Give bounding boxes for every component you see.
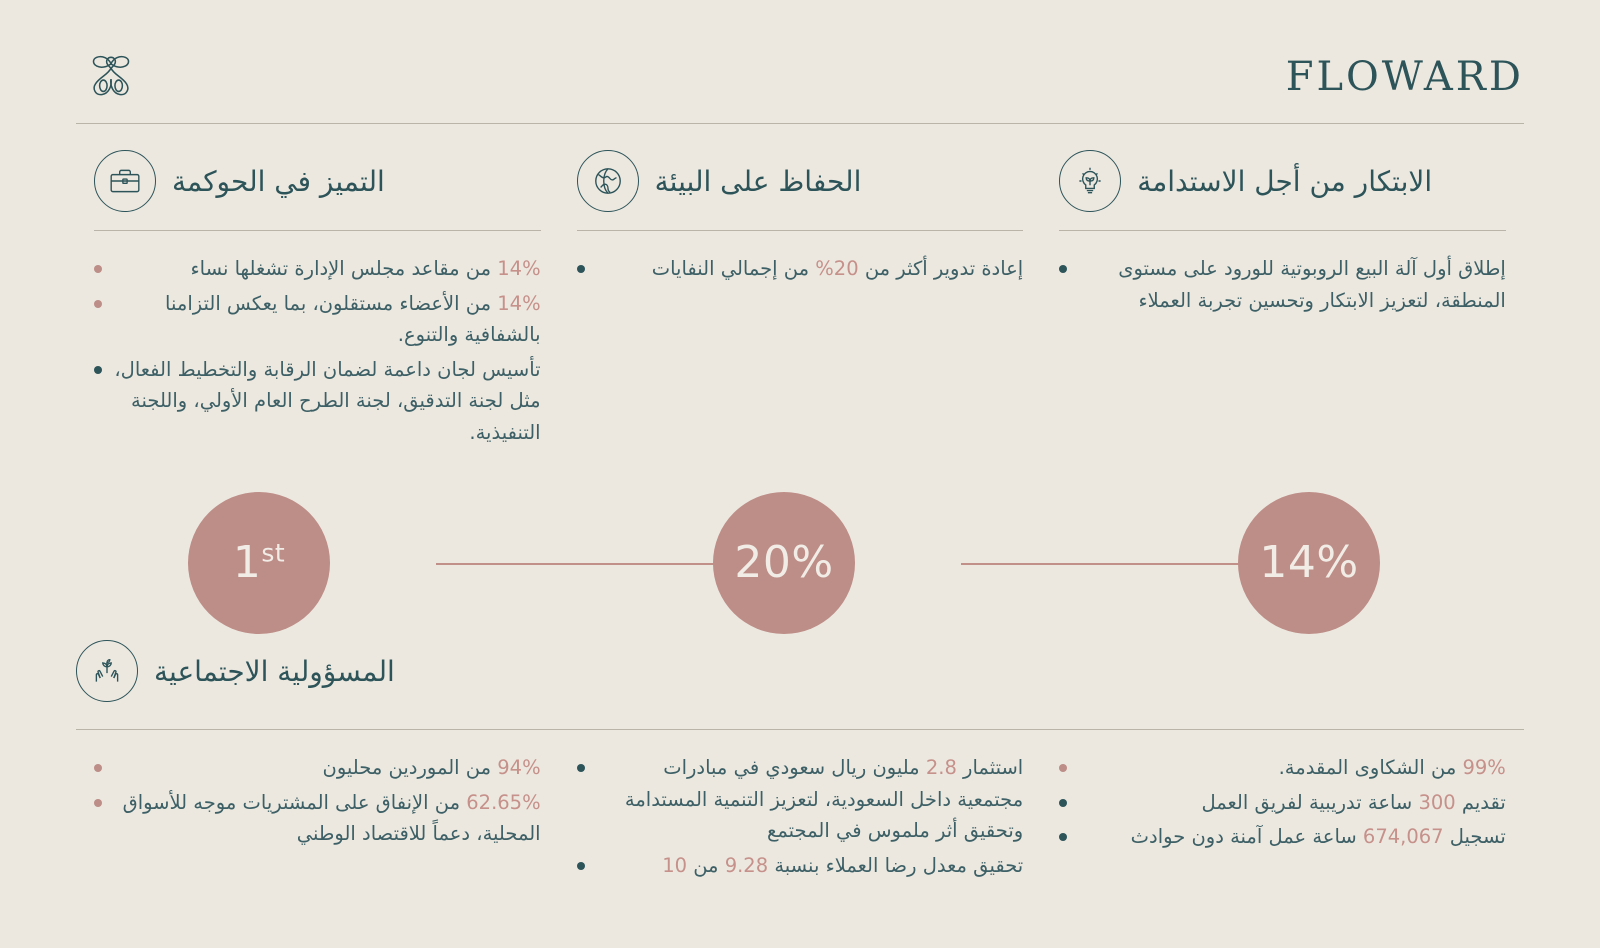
section-innovation: الابتكار من أجل الاستدامة إطلاق أول آلة …: [1041, 150, 1524, 451]
social-header: المسؤولية الاجتماعية: [76, 640, 1524, 702]
highlight-value: 62.65%: [466, 791, 540, 814]
body-text: من إجمالي النفايات: [652, 257, 816, 280]
bullet-dot-icon: [577, 764, 585, 772]
social-bullets-local-sourcing: 94% من الموردين محليون62.65% من الإنفاق …: [94, 752, 541, 850]
highlight-value: 20%: [815, 257, 858, 280]
list-item: إعادة تدوير أكثر من 20% من إجمالي النفاي…: [577, 253, 1024, 285]
list-item: تحقيق معدل رضا العملاء بنسبة 9.28 من 10: [577, 850, 1024, 882]
highlight-value: 14%: [497, 292, 540, 315]
social-bullets-workforce-safety: 99% من الشكاوى المقدمة.تقديم 300 ساعة تد…: [1059, 752, 1506, 853]
bullet-dot-icon: [577, 862, 585, 870]
body-text: إعادة تدوير أكثر من: [859, 257, 1024, 280]
governance-title: التميز في الحوكمة: [172, 164, 385, 199]
list-item-text: 62.65% من الإنفاق على المشتريات موجه للأ…: [114, 787, 541, 850]
governance-header: التميز في الحوكمة: [94, 150, 541, 212]
bullet-dot-icon: [1059, 265, 1067, 273]
bullet-dot-icon: [94, 764, 102, 772]
list-item-text: استثمار 2.8 مليون ريال سعودي في مبادرات …: [597, 752, 1024, 847]
infographic-page: FLOWARD: [0, 0, 1600, 948]
social-divider: [76, 729, 1524, 730]
stat-value-board: 14%: [1259, 541, 1358, 585]
social-bullets-community-investment: استثمار 2.8 مليون ريال سعودي في مبادرات …: [577, 752, 1024, 881]
bullet-dot-icon: [577, 265, 585, 273]
environment-bullets: إعادة تدوير أكثر من 20% من إجمالي النفاي…: [577, 253, 1024, 285]
brand-logo: FLOWARD: [1286, 57, 1524, 97]
stat-bubble-first: 1st: [188, 492, 330, 634]
environment-title: الحفاظ على البيئة: [655, 164, 862, 199]
bullet-dot-icon: [94, 799, 102, 807]
hands-plant-icon: [76, 640, 138, 702]
list-item-text: تحقيق معدل رضا العملاء بنسبة 9.28 من 10: [597, 850, 1024, 882]
page-header: FLOWARD: [76, 34, 1524, 120]
body-text: من: [687, 854, 725, 877]
social-title: المسؤولية الاجتماعية: [154, 654, 395, 689]
list-item: تسجيل 674,067 ساعة عمل آمنة دون حوادث: [1059, 821, 1506, 853]
list-item-text: تأسيس لجان داعمة لضمان الرقابة والتخطيط …: [114, 354, 541, 449]
innovation-title: الابتكار من أجل الاستدامة: [1137, 164, 1432, 199]
list-item-text: 14% من مقاعد مجلس الإدارة تشغلها نساء: [114, 253, 541, 285]
section-governance: التميز في الحوكمة 14% من مقاعد مجلس الإد…: [76, 150, 559, 451]
stat-bubble-board: 14%: [1238, 492, 1380, 634]
list-item-text: 99% من الشكاوى المقدمة.: [1079, 752, 1506, 784]
list-item: 94% من الموردين محليون: [94, 752, 541, 784]
social-column-community-investment: استثمار 2.8 مليون ريال سعودي في مبادرات …: [559, 752, 1042, 884]
highlight-value: 9.28: [725, 854, 768, 877]
body-text: ساعة تدريبية لفريق العمل: [1201, 791, 1418, 814]
social-column-local-sourcing: 94% من الموردين محليون62.65% من الإنفاق …: [76, 752, 559, 884]
body-text: من مقاعد مجلس الإدارة تشغلها نساء: [190, 257, 497, 280]
list-item: استثمار 2.8 مليون ريال سعودي في مبادرات …: [577, 752, 1024, 847]
stat-bubble-recycling: 20%: [713, 492, 855, 634]
list-item: تأسيس لجان داعمة لضمان الرقابة والتخطيط …: [94, 354, 541, 449]
highlight-value: 99%: [1462, 756, 1505, 779]
bullet-dot-icon: [1059, 799, 1067, 807]
innovation-divider: [1059, 230, 1506, 231]
governance-bullets: 14% من مقاعد مجلس الإدارة تشغلها نساء14%…: [94, 253, 541, 448]
innovation-header: الابتكار من أجل الاستدامة: [1059, 150, 1506, 212]
bullet-dot-icon: [1059, 764, 1067, 772]
list-item: تقديم 300 ساعة تدريبية لفريق العمل: [1059, 787, 1506, 819]
list-item: إطلاق أول آلة البيع الروبوتية للورود على…: [1059, 253, 1506, 316]
briefcase-icon: [94, 150, 156, 212]
highlight-value: 300: [1418, 791, 1455, 814]
body-text: تسجيل: [1444, 825, 1506, 848]
body-text: ساعة عمل آمنة دون حوادث: [1131, 825, 1363, 848]
list-item-text: تسجيل 674,067 ساعة عمل آمنة دون حوادث: [1079, 821, 1506, 853]
body-text: من الشكاوى المقدمة.: [1279, 756, 1463, 779]
globe-icon: [577, 150, 639, 212]
stat-value-first: 1st: [233, 541, 285, 585]
highlight-value: 674,067: [1363, 825, 1444, 848]
body-text: استثمار: [957, 756, 1023, 779]
highlight-value: 2.8: [926, 756, 957, 779]
stat-value-recycling: 20%: [734, 541, 833, 585]
body-text: إطلاق أول آلة البيع الروبوتية للورود على…: [1118, 257, 1506, 312]
environment-header: الحفاظ على البيئة: [577, 150, 1024, 212]
innovation-bullets: إطلاق أول آلة البيع الروبوتية للورود على…: [1059, 253, 1506, 316]
highlight-value: 14%: [497, 257, 540, 280]
list-item: 14% من مقاعد مجلس الإدارة تشغلها نساء: [94, 253, 541, 285]
list-item-text: إطلاق أول آلة البيع الروبوتية للورود على…: [1079, 253, 1506, 316]
body-text: من الأعضاء مستقلون، بما يعكس التزامنا با…: [165, 292, 541, 347]
list-item-text: تقديم 300 ساعة تدريبية لفريق العمل: [1079, 787, 1506, 819]
social-columns: 94% من الموردين محليون62.65% من الإنفاق …: [76, 752, 1524, 884]
body-text: تأسيس لجان داعمة لضمان الرقابة والتخطيط …: [114, 358, 540, 444]
highlight-value: 94%: [497, 756, 540, 779]
bullet-dot-icon: [94, 300, 102, 308]
list-item: 99% من الشكاوى المقدمة.: [1059, 752, 1506, 784]
header-divider: [76, 123, 1524, 124]
body-text: من الموردين محليون: [323, 756, 498, 779]
bullet-dot-icon: [94, 366, 102, 374]
list-item: 14% من الأعضاء مستقلون، بما يعكس التزامن…: [94, 288, 541, 351]
section-environment: الحفاظ على البيئة إعادة تدوير أكثر من 20…: [559, 150, 1042, 451]
stat-circles-row: 1st 20% 14%: [76, 492, 1524, 634]
list-item-text: 14% من الأعضاء مستقلون، بما يعكس التزامن…: [114, 288, 541, 351]
body-text: تحقيق معدل رضا العملاء بنسبة: [768, 854, 1023, 877]
list-item-text: 94% من الموردين محليون: [114, 752, 541, 784]
governance-divider: [94, 230, 541, 231]
social-column-workforce-safety: 99% من الشكاوى المقدمة.تقديم 300 ساعة تد…: [1041, 752, 1524, 884]
highlight-value: 10: [662, 854, 687, 877]
top-sections: التميز في الحوكمة 14% من مقاعد مجلس الإد…: [76, 150, 1524, 451]
body-text: تقديم: [1456, 791, 1506, 814]
list-item-text: إعادة تدوير أكثر من 20% من إجمالي النفاي…: [597, 253, 1024, 285]
lightbulb-plant-icon: [1059, 150, 1121, 212]
bullet-dot-icon: [1059, 833, 1067, 841]
bullet-dot-icon: [94, 265, 102, 273]
environment-divider: [577, 230, 1024, 231]
butterfly-flourish-icon: [76, 42, 146, 112]
list-item: 62.65% من الإنفاق على المشتريات موجه للأ…: [94, 787, 541, 850]
